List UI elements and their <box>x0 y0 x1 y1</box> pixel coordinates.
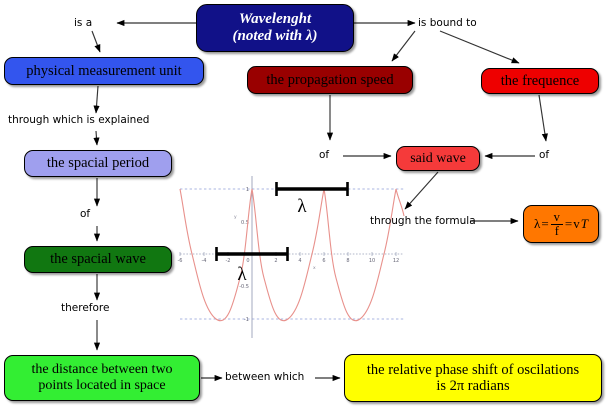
formula-lambda: λ <box>534 217 540 232</box>
node-distance-between-points[interactable]: the distance between two points located … <box>4 355 200 401</box>
svg-text:-2: -2 <box>226 258 231 264</box>
edge-label-is-bound-to: is bound to <box>418 17 477 29</box>
sine-curve <box>180 189 404 321</box>
svg-text:8: 8 <box>346 258 349 264</box>
lambda-label-bottom: λ <box>237 264 247 285</box>
distance-line-2: points located in space <box>38 378 165 394</box>
edge-label-of-period: of <box>80 208 90 220</box>
sine-wave-chart: -6 -4 -2 0 2 4 6 8 10 12 1 0.5 -0.5 -1 y… <box>176 170 408 342</box>
node-wavelength-title[interactable]: Wavelenght (noted with λ) <box>196 4 354 52</box>
edge-label-therefore: therefore <box>61 302 109 314</box>
x-axis-label: x <box>313 266 316 271</box>
svg-text:0: 0 <box>246 258 249 264</box>
edge-label-between-which: between which <box>225 371 304 383</box>
node-propagation-speed[interactable]: the propagation speed <box>247 66 413 94</box>
lambda-label-top: λ <box>297 196 307 217</box>
formula-denominator: f <box>552 225 562 238</box>
svg-text:6: 6 <box>322 258 325 264</box>
formula-numerator: v <box>551 211 563 225</box>
edge-label-through-which-is-explained: through which is explained <box>8 114 149 126</box>
svg-text:-4: -4 <box>202 258 207 264</box>
edge-label-of-right: of <box>539 149 549 161</box>
node-wavelength-formula[interactable]: λ = v f = v T <box>523 205 599 243</box>
distance-line-1: the distance between two <box>31 362 172 378</box>
svg-text:-1: -1 <box>244 317 249 323</box>
phase-line-2: is 2π radians <box>436 378 509 394</box>
edge-label-of-left: of <box>319 149 329 161</box>
node-said-wave[interactable]: said wave <box>396 146 480 171</box>
diagram-canvas: -6 -4 -2 0 2 4 6 8 10 12 1 0.5 -0.5 -1 y… <box>0 0 609 413</box>
svg-text:12: 12 <box>393 258 399 264</box>
formula-v: v <box>573 217 580 232</box>
svg-text:2: 2 <box>274 258 277 264</box>
lambda-measure-bar-top <box>276 182 348 196</box>
formula-T: T <box>581 217 588 232</box>
node-frequence[interactable]: the frequence <box>481 68 599 94</box>
formula-fraction: v f <box>551 211 563 237</box>
formula-expression: λ = v f = v T <box>534 211 588 237</box>
formula-equals-2: = <box>565 217 572 232</box>
title-line-1: Wavelenght <box>239 11 311 28</box>
y-axis-label: y <box>234 215 237 220</box>
node-physical-measurement-unit[interactable]: physical measurement unit <box>4 57 204 85</box>
edge-label-is-a: is a <box>74 17 92 29</box>
node-relative-phase-shift[interactable]: the relative phase shift of oscilations … <box>344 354 602 402</box>
svg-text:4: 4 <box>298 258 301 264</box>
node-spacial-period[interactable]: the spacial period <box>24 150 172 177</box>
title-line-2: (noted with λ) <box>233 28 318 45</box>
node-spacial-wave[interactable]: the spacial wave <box>24 246 172 273</box>
svg-text:10: 10 <box>369 258 375 264</box>
svg-text:-6: -6 <box>178 258 183 264</box>
edge-label-through-the-formula: through the formula <box>370 215 476 227</box>
phase-line-1: the relative phase shift of oscilations <box>367 362 579 378</box>
formula-equals-1: = <box>541 217 548 232</box>
svg-text:1: 1 <box>246 187 249 193</box>
